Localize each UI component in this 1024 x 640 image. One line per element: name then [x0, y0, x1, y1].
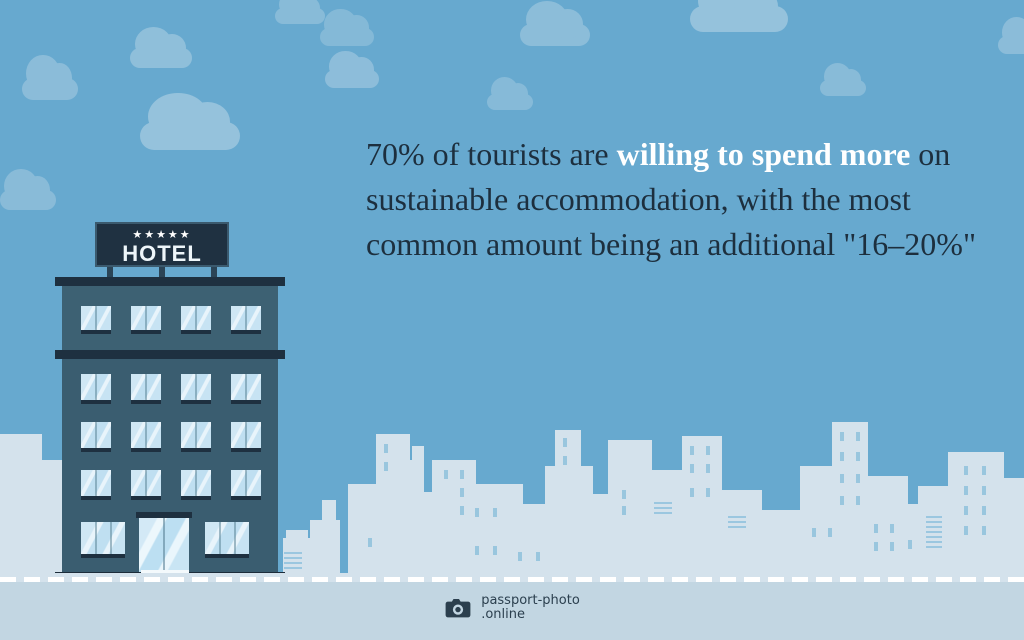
skyline-building	[682, 436, 722, 582]
facade-window	[368, 538, 372, 547]
star-rating: ★★★★★	[97, 229, 227, 240]
facade-stripes	[926, 516, 942, 551]
facade-window	[964, 466, 968, 475]
facade-window	[444, 470, 448, 479]
facade-window	[460, 488, 464, 497]
facade-window	[964, 526, 968, 535]
hotel-window	[81, 470, 111, 500]
headline-part1: 70% of tourists are	[366, 136, 617, 172]
facade-window	[690, 464, 694, 473]
facade-window	[964, 506, 968, 515]
facade-window	[874, 542, 878, 551]
facade-window	[384, 444, 388, 453]
skyline-building	[608, 440, 652, 582]
skyline-building	[322, 500, 336, 582]
facade-window	[493, 508, 497, 517]
footer-branding: passport-photo .online	[0, 594, 1024, 622]
hotel-window	[231, 374, 261, 404]
camera-icon	[444, 597, 472, 619]
brand-line-2: .online	[481, 608, 580, 622]
hotel-window	[181, 306, 211, 334]
facade-window	[840, 432, 844, 441]
headline-text: 70% of tourists are willing to spend mor…	[366, 132, 991, 267]
facade-window	[460, 470, 464, 479]
facade-window	[982, 466, 986, 475]
facade-window	[475, 508, 479, 517]
facade-window	[874, 524, 878, 533]
facade-window	[840, 452, 844, 461]
cloud	[325, 70, 379, 88]
hotel-window	[131, 422, 161, 452]
facade-window	[563, 438, 567, 447]
hotel-window	[231, 422, 261, 452]
facade-window	[856, 432, 860, 441]
cloud	[520, 24, 590, 46]
hotel-window	[231, 470, 261, 500]
hotel-window	[181, 374, 211, 404]
cloud	[690, 6, 788, 32]
facade-window	[964, 486, 968, 495]
facade-window	[982, 526, 986, 535]
facade-window	[690, 488, 694, 497]
hotel-window	[131, 470, 161, 500]
facade-window	[706, 446, 710, 455]
facade-window	[384, 462, 388, 471]
facade-window	[840, 474, 844, 483]
cloud	[140, 122, 240, 150]
facade-stripes	[654, 502, 672, 517]
cloud	[320, 28, 374, 46]
headline-highlight: willing to spend more	[617, 136, 911, 172]
skyline-building	[555, 430, 581, 582]
hotel-window-ground-right	[205, 522, 249, 558]
facade-window	[563, 456, 567, 465]
facade-window	[475, 546, 479, 555]
facade-window	[982, 486, 986, 495]
facade-window	[982, 506, 986, 515]
roof-slab	[55, 277, 285, 286]
cloud	[487, 94, 533, 110]
facade-window	[460, 506, 464, 515]
cloud	[998, 36, 1024, 54]
facade-window	[622, 490, 626, 499]
facade-window	[536, 552, 540, 561]
cloud	[22, 78, 78, 100]
brand-line-1: passport-photo	[481, 594, 580, 608]
hotel-building: ★★★★★ HOTEL	[55, 222, 285, 582]
hotel-window	[81, 374, 111, 404]
cloud	[275, 8, 325, 24]
cloud	[130, 48, 192, 68]
skyline-building	[918, 486, 952, 582]
facade-window	[890, 524, 894, 533]
facade-window	[493, 546, 497, 555]
facade-window	[706, 464, 710, 473]
facade-window	[518, 552, 522, 561]
facade-window	[840, 496, 844, 505]
hotel-window	[181, 422, 211, 452]
facade-window	[890, 542, 894, 551]
hotel-sign-label: HOTEL	[97, 241, 227, 267]
facade-window	[622, 506, 626, 515]
cloud	[0, 190, 56, 210]
skyline-building	[996, 478, 1024, 582]
hotel-window	[131, 374, 161, 404]
hotel-window	[181, 470, 211, 500]
facade-window	[856, 452, 860, 461]
facade-window	[706, 488, 710, 497]
headline-part3: "16–20%"	[843, 226, 976, 262]
floor-divider-band	[55, 350, 285, 359]
brand-text: passport-photo .online	[481, 594, 580, 622]
hotel-window	[81, 306, 111, 334]
hotel-window	[231, 306, 261, 334]
hotel-sign: ★★★★★ HOTEL	[95, 222, 229, 267]
facade-stripes	[728, 516, 746, 531]
infographic-canvas: ★★★★★ HOTEL	[0, 0, 1024, 640]
facade-stripes	[284, 552, 302, 572]
entrance-door[interactable]	[139, 518, 189, 574]
hotel-window	[131, 306, 161, 334]
hotel-window-ground-left	[81, 522, 125, 558]
hotel-window	[81, 422, 111, 452]
facade-window	[690, 446, 694, 455]
facade-window	[908, 540, 912, 549]
cloud	[820, 80, 866, 96]
facade-window	[812, 528, 816, 537]
